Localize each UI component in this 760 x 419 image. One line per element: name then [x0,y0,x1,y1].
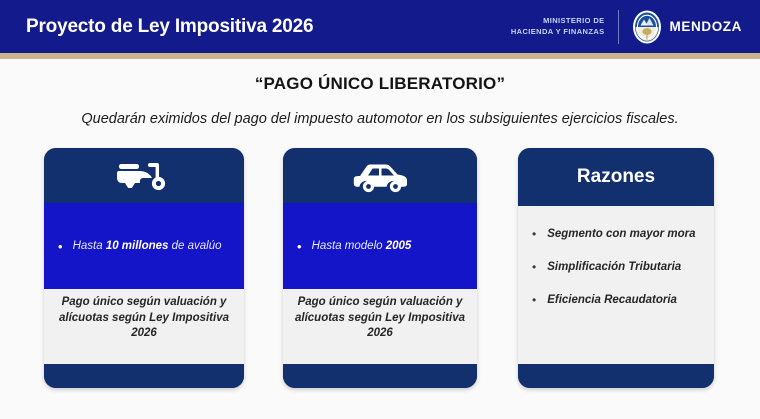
card-razones-body: • Segmento con mayor mora • Simplificaci… [518,206,714,364]
razon-text: Simplificación Tributaria [547,261,681,273]
highlight-strong: 10 millones [106,240,169,252]
list-item: • Eficiencia Recaudatoria [532,294,704,307]
card-scooter-footer: Pago único según valuación y alícuotas s… [44,289,244,364]
card-razones-header: Razones [518,148,714,206]
ministry-line-2: HACIENDA Y FINANZAS [511,27,605,37]
bullet-icon: • [532,228,536,241]
highlight-prefix: Hasta modelo [312,240,386,252]
list-item: • Simplificación Tributaria [532,261,704,274]
card-car-highlight: • Hasta modelo 2005 [283,203,477,289]
card-razones-bottom-strip [518,364,714,388]
highlight-suffix: de avalúo [168,240,221,252]
card-car-highlight-text: Hasta modelo 2005 [312,240,412,252]
mendoza-coat-of-arms-icon [632,10,662,44]
card-scooter-highlight: • Hasta 10 millones de avalúo [44,203,244,289]
bullet-icon: • [58,240,63,253]
card-scooter[interactable]: • Hasta 10 millones de avalúo Pago único… [44,148,244,388]
bullet-icon: • [532,294,536,307]
page-title: Proyecto de Ley Impositiva 2026 [26,16,313,38]
section-subtitle: Quedarán eximidos del pago del impuesto … [0,111,760,127]
list-item: • Segmento con mayor mora [532,228,704,241]
page-header: Proyecto de Ley Impositiva 2026 MINISTER… [0,0,760,53]
header-divider [618,10,619,44]
card-razones-title: Razones [577,166,655,188]
card-scooter-icon-band [44,148,244,203]
bullet-icon: • [532,261,536,274]
gold-divider [0,53,760,59]
card-car-icon-band [283,148,477,203]
razon-text: Eficiencia Recaudatoria [547,294,677,306]
razon-text: Segmento con mayor mora [547,228,695,240]
card-scooter-highlight-text: Hasta 10 millones de avalúo [73,240,222,252]
scooter-icon [113,157,175,195]
bullet-icon: • [297,240,302,253]
car-icon [348,158,412,194]
card-scooter-bottom-strip [44,364,244,388]
ministry-line-1: MINISTERIO DE [511,16,605,26]
ministry-label: MINISTERIO DE HACIENDA Y FINANZAS [511,16,618,36]
card-scooter-footer-text: Pago único según valuación y alícuotas s… [56,295,232,342]
highlight-prefix: Hasta [73,240,106,252]
card-car-footer-text: Pago único según valuación y alícuotas s… [295,295,465,342]
section-title: “PAGO ÚNICO LIBERATORIO” [0,74,760,94]
brand-name-label: MENDOZA [670,19,742,34]
card-razones[interactable]: Razones • Segmento con mayor mora • Simp… [518,148,714,388]
card-car[interactable]: • Hasta modelo 2005 Pago único según val… [283,148,477,388]
highlight-strong: 2005 [386,240,412,252]
header-branding: MINISTERIO DE HACIENDA Y FINANZAS MENDOZ… [511,10,742,44]
card-car-bottom-strip [283,364,477,388]
mendoza-brand: MENDOZA [632,10,742,44]
card-car-footer: Pago único según valuación y alícuotas s… [283,289,477,364]
